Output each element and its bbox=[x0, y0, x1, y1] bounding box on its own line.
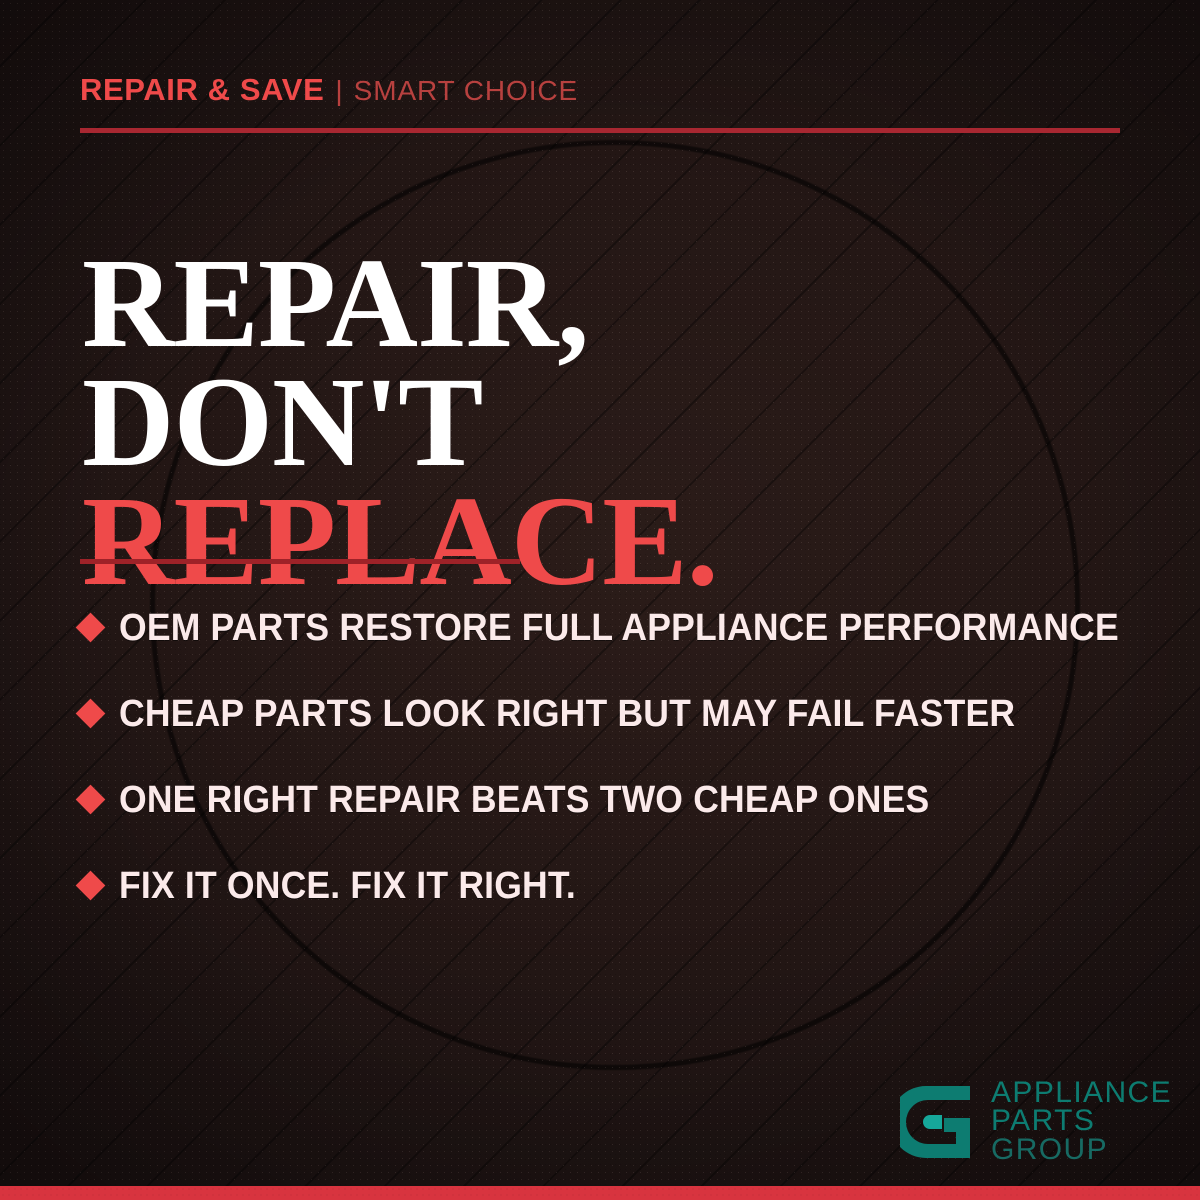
headline-divider-rule bbox=[80, 559, 520, 564]
appliance-parts-group-g-icon bbox=[900, 1086, 978, 1158]
diamond-bullet-icon bbox=[76, 784, 106, 814]
list-item: OEM PARTS RESTORE FULL APPLIANCE PERFORM… bbox=[80, 585, 1170, 671]
brand-logo: APPLIANCE PARTS GROUP bbox=[900, 1079, 1172, 1165]
list-item-label: CHEAP PARTS LOOK RIGHT BUT MAY FAIL FAST… bbox=[119, 693, 1015, 736]
bottom-accent-bar bbox=[0, 1186, 1200, 1200]
list-item-label: OEM PARTS RESTORE FULL APPLIANCE PERFORM… bbox=[119, 607, 1119, 650]
headline-line-1: REPAIR, bbox=[82, 244, 1142, 363]
eyebrow-sub-label: SMART CHOICE bbox=[354, 75, 578, 107]
top-divider-rule bbox=[80, 128, 1120, 133]
bottom-bar-texture bbox=[0, 1186, 1200, 1200]
list-item-label: FIX IT ONCE. FIX IT RIGHT. bbox=[119, 865, 576, 908]
list-item: ONE RIGHT REPAIR BEATS TWO CHEAP ONES bbox=[80, 757, 1170, 843]
diamond-bullet-icon bbox=[76, 698, 106, 728]
promo-poster: REPAIR & SAVE | SMART CHOICE REPAIR, DON… bbox=[0, 0, 1200, 1200]
poster-content: REPAIR & SAVE | SMART CHOICE REPAIR, DON… bbox=[0, 0, 1200, 1200]
benefit-list: OEM PARTS RESTORE FULL APPLIANCE PERFORM… bbox=[80, 585, 1170, 929]
headline-line-2: DON'T bbox=[82, 363, 1142, 482]
logo-line-appliance: APPLIANCE bbox=[991, 1079, 1172, 1108]
brand-logo-wordmark: APPLIANCE PARTS GROUP bbox=[991, 1079, 1172, 1165]
eyebrow: REPAIR & SAVE | SMART CHOICE bbox=[80, 72, 578, 108]
list-item-label: ONE RIGHT REPAIR BEATS TWO CHEAP ONES bbox=[119, 779, 929, 822]
list-item: FIX IT ONCE. FIX IT RIGHT. bbox=[80, 843, 1170, 929]
page-title: REPAIR, DON'T REPLACE. bbox=[82, 244, 1142, 601]
logo-line-parts: PARTS bbox=[991, 1107, 1172, 1136]
diamond-bullet-icon bbox=[76, 870, 106, 900]
eyebrow-main-label: REPAIR & SAVE bbox=[80, 72, 324, 108]
headline-line-3: REPLACE. bbox=[82, 482, 1142, 601]
list-item: CHEAP PARTS LOOK RIGHT BUT MAY FAIL FAST… bbox=[80, 671, 1170, 757]
eyebrow-separator: | bbox=[335, 75, 342, 107]
diamond-bullet-icon bbox=[76, 612, 106, 642]
logo-line-group: GROUP bbox=[991, 1136, 1172, 1165]
